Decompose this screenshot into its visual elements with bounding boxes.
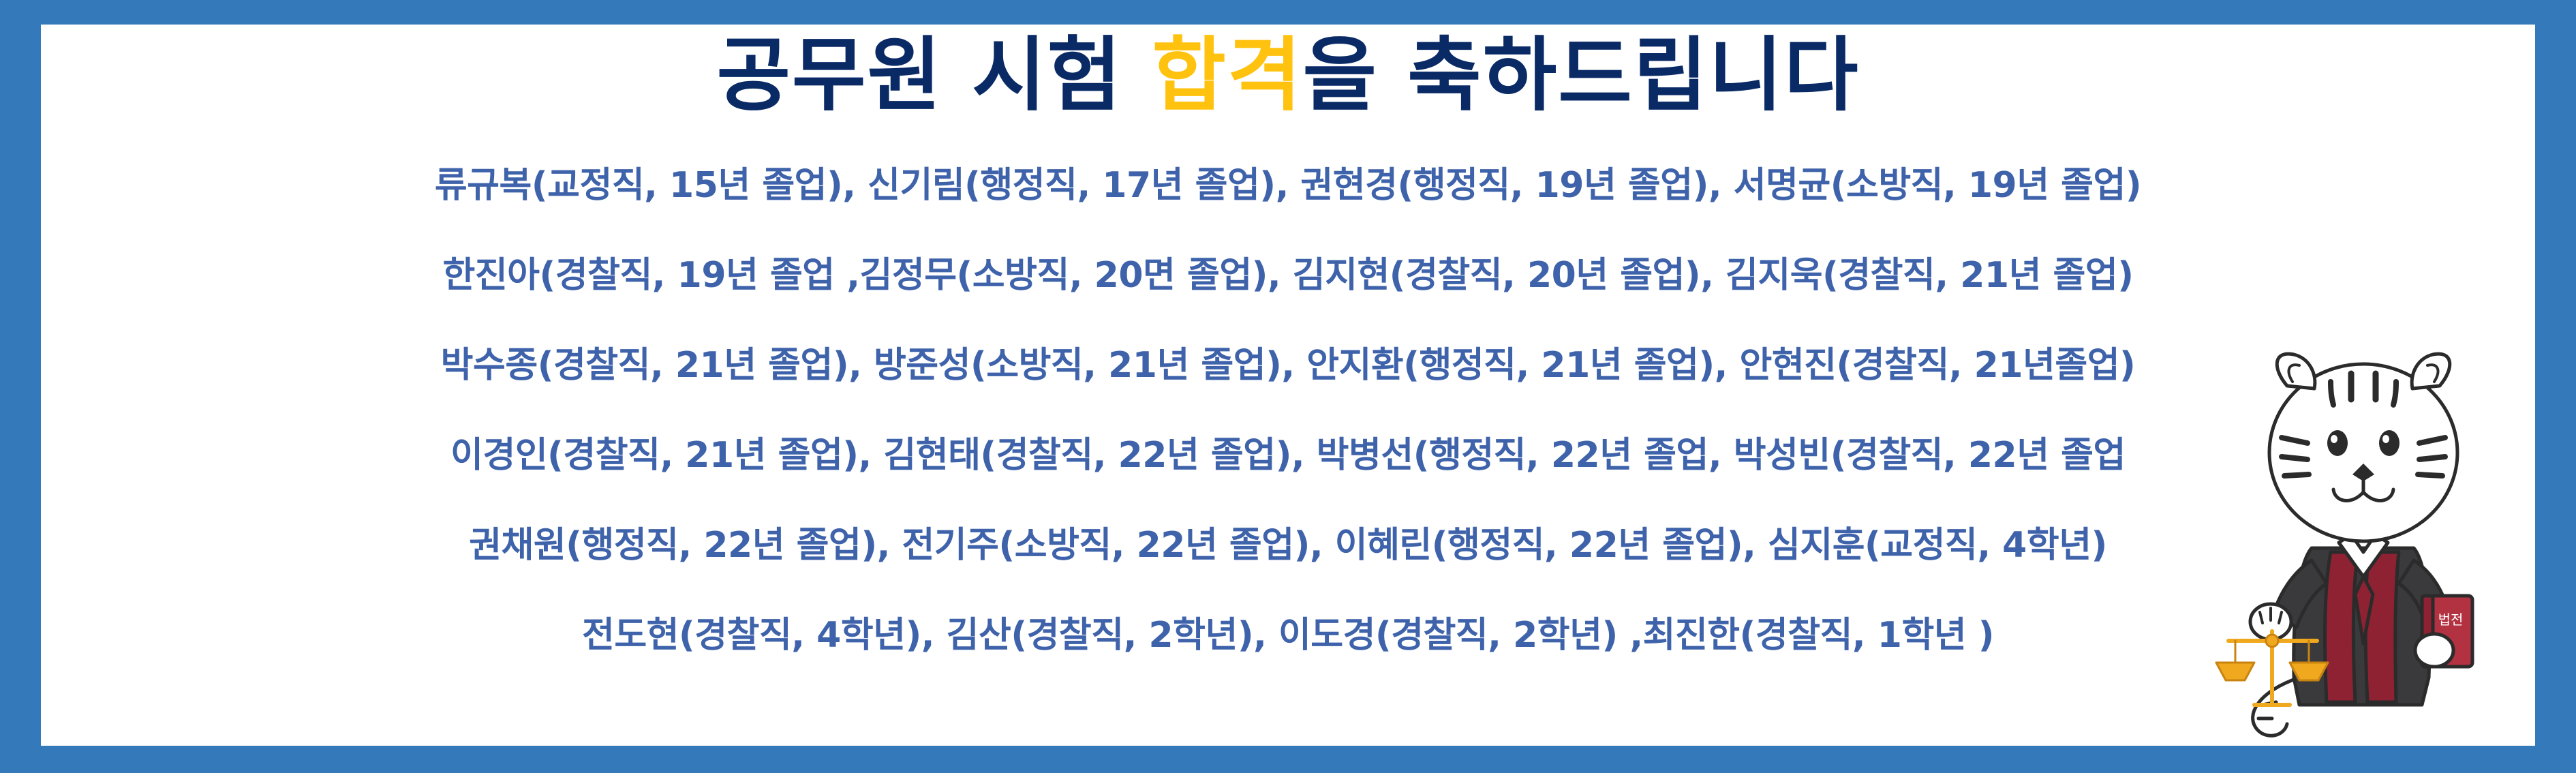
title-segment-highlight: 합격 bbox=[1152, 28, 1302, 122]
banner-inner: 공무원 시험 합격을 축하드립니다 류규복(교정직, 15년 졸업), 신기림(… bbox=[41, 25, 2535, 746]
title-segment-suffix: 을 축하드립니다 bbox=[1303, 28, 1860, 122]
name-line: 박수종(경찰직, 21년 졸업), 방준성(소방직, 21년 졸업), 안지환(… bbox=[68, 348, 2508, 383]
name-line: 류규복(교정직, 15년 졸업), 신기림(행정직, 17년 졸업), 권현경(… bbox=[68, 168, 2508, 203]
title-segment-prefix: 공무원 시험 bbox=[716, 28, 1152, 122]
graduate-name-list: 류규복(교정직, 15년 졸업), 신기림(행정직, 17년 졸업), 권현경(… bbox=[41, 168, 2535, 653]
name-line: 한진아(경찰직, 19년 졸업 ,김정무(소방직, 20면 졸업), 김지현(경… bbox=[68, 258, 2508, 293]
tiger-judge-mascot-icon: 법전 bbox=[2197, 323, 2517, 746]
name-line: 전도현(경찰직, 4학년), 김산(경찰직, 2학년), 이도경(경찰직, 2학… bbox=[68, 618, 2508, 653]
page-title: 공무원 시험 합격을 축하드립니다 bbox=[41, 30, 2535, 120]
name-line: 권채원(행정직, 22년 졸업), 전기주(소방직, 22년 졸업), 이혜린(… bbox=[68, 528, 2508, 563]
name-line: 이경인(경찰직, 21년 졸업), 김현태(경찰직, 22년 졸업), 박병선(… bbox=[68, 438, 2508, 473]
tiger-mascot-svg: 법전 bbox=[2197, 323, 2517, 746]
banner-frame: 공무원 시험 합격을 축하드립니다 류규복(교정직, 15년 졸업), 신기림(… bbox=[0, 0, 2576, 773]
svg-text:법전: 법전 bbox=[2438, 611, 2464, 628]
